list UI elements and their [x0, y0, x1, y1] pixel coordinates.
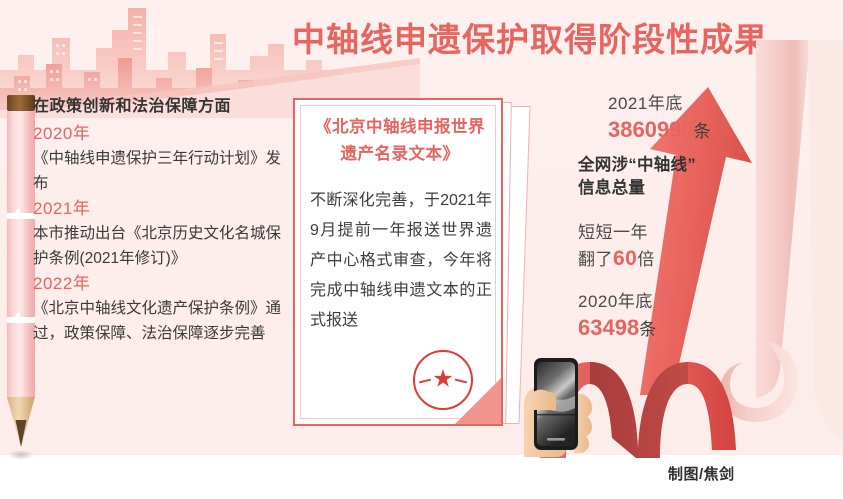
credit-line: 制图/焦剑	[668, 463, 788, 484]
timeline-text: 《北京中轴线文化遗产保护条例》通过，政策保障、法治保障逐步完善	[33, 296, 291, 346]
stat-2021-label: 2021年底	[608, 92, 768, 116]
infographic-canvas: 中轴线申遗保护取得阶段性成果	[0, 0, 843, 499]
timeline-year: 2021年	[33, 196, 291, 221]
stat-growth: 短短一年 翻了60倍	[578, 220, 728, 273]
stat-2021-value-row: 3860990条	[608, 116, 768, 146]
stat-growth-suffix: 倍	[637, 250, 655, 269]
stat-growth-line1: 短短一年	[578, 220, 728, 246]
policy-timeline-column: 在政策创新和法治保障方面 2020年 《中轴线申遗保护三年行动计划》发布 202…	[33, 96, 291, 346]
document-card: 《北京中轴线申报世界遗产名录文本》 不断深化完善，于2021年9月提前一年报送世…	[293, 98, 503, 426]
timeline-entry: 2022年 《北京中轴线文化遗产保护条例》通过，政策保障、法治保障逐步完善	[33, 271, 291, 346]
stat-2021: 2021年底 3860990条	[608, 92, 768, 146]
timeline-text: 《中轴线申遗保护三年行动计划》发布	[33, 146, 291, 196]
stat-2020: 2020年底 63498条	[578, 290, 738, 344]
seal-star-glyph: ★	[432, 368, 454, 392]
seal-dash-right	[455, 379, 467, 383]
card-title: 《北京中轴线申报世界遗产名录文本》	[307, 114, 493, 168]
timeline-text: 本市推动出台《北京历史文化名城保护条例(2021年修订)》	[33, 221, 291, 271]
card-body-text: 不断深化完善，于2021年9月提前一年报送世界遗产中心格式审查，今年将完成中轴线…	[310, 186, 492, 336]
timeline-entry: 2020年 《中轴线申遗保护三年行动计划》发布	[33, 121, 291, 196]
pencil-icon	[6, 95, 36, 465]
stat-2021-value: 3860990	[608, 117, 694, 142]
stat-heading-line1: 全网涉“中轴线”	[578, 154, 748, 177]
stat-2021-unit: 条	[694, 122, 711, 141]
red-star-seal-icon: ★	[413, 350, 473, 410]
left-column-heading: 在政策创新和法治保障方面	[33, 96, 291, 118]
timeline-entry: 2021年 本市推动出台《北京历史文化名城保护条例(2021年修订)》	[33, 196, 291, 271]
stat-2020-label: 2020年底	[578, 290, 738, 314]
timeline-year: 2022年	[33, 271, 291, 296]
timeline-year: 2020年	[33, 121, 291, 146]
stat-heading: 全网涉“中轴线” 信息总量	[578, 154, 748, 200]
stat-2020-unit: 条	[639, 320, 656, 339]
stat-2020-value-row: 63498条	[578, 314, 738, 344]
stat-2020-value: 63498	[578, 315, 639, 340]
stat-heading-line2: 信息总量	[578, 177, 748, 200]
stat-growth-prefix: 翻了	[578, 250, 613, 269]
hand-holding-phone-icon	[522, 352, 617, 457]
stat-growth-value: 60	[613, 247, 637, 270]
seal-dash-left	[419, 379, 431, 383]
stat-growth-line2: 翻了60倍	[578, 246, 728, 273]
